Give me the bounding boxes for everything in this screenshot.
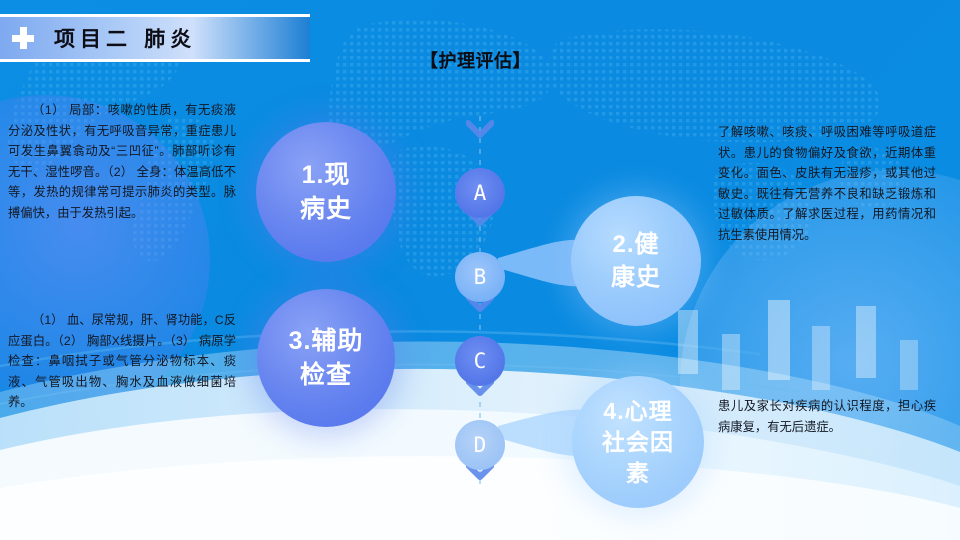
paragraph-left-bottom: （1） 血、尿常规，肝、肾功能，C反应蛋白。（2） 胸部X线摄片。（3） 病原学…: [8, 310, 236, 413]
spine-node-d[interactable]: D: [455, 420, 505, 470]
slide-title-bar: 项目二 肺炎: [0, 14, 310, 62]
spine-node-c[interactable]: C: [455, 336, 505, 386]
circle-3-line2: 检查: [289, 358, 364, 392]
circle-item-2[interactable]: 2.健 康史: [571, 196, 701, 326]
paragraph-right-top: 了解咳嗽、咳痰、呼吸困难等呼吸道症状。患儿的食物偏好及食欲，近期体重变化。面色、…: [718, 122, 936, 245]
center-spine: A B C D: [455, 110, 505, 490]
circle-2-line2: 康史: [611, 261, 661, 294]
circle-1-line1: 1.现: [300, 158, 352, 192]
spine-node-b[interactable]: B: [455, 252, 505, 302]
spine-node-a[interactable]: A: [455, 168, 505, 218]
circle-3-line1: 3.辅助: [289, 324, 364, 358]
circle-item-1[interactable]: 1.现 病史: [256, 122, 396, 262]
circle-4-line3: 素: [602, 458, 674, 489]
page-title: 【护理评估】: [420, 47, 531, 73]
circle-2-line1: 2.健: [611, 228, 661, 261]
circle-item-3[interactable]: 3.辅助 检查: [257, 289, 395, 427]
chevron-down-icon: [466, 120, 494, 142]
circle-1-line2: 病史: [300, 192, 352, 226]
circle-4-line1: 4.心理: [602, 396, 674, 427]
slide-title-text: 项目二 肺炎: [54, 23, 196, 53]
medical-cross-icon: [12, 27, 34, 49]
circle-item-4[interactable]: 4.心理 社会因 素: [572, 376, 704, 508]
circle-4-line2: 社会因: [602, 427, 674, 458]
slide-canvas: 项目二 肺炎 【护理评估】 （1） 局部：咳嗽的性质，有无痰液分泌及性状，有无呼…: [0, 0, 960, 540]
vertical-light-bars-decoration: [660, 300, 960, 480]
paragraph-right-bottom: 患儿及家长对疾病的认识程度，担心疾病康复，有无后遗症。: [718, 396, 936, 437]
paragraph-left-top: （1） 局部：咳嗽的性质，有无痰液分泌及性状，有无呼吸音异常，重症患儿可发生鼻翼…: [8, 100, 236, 223]
